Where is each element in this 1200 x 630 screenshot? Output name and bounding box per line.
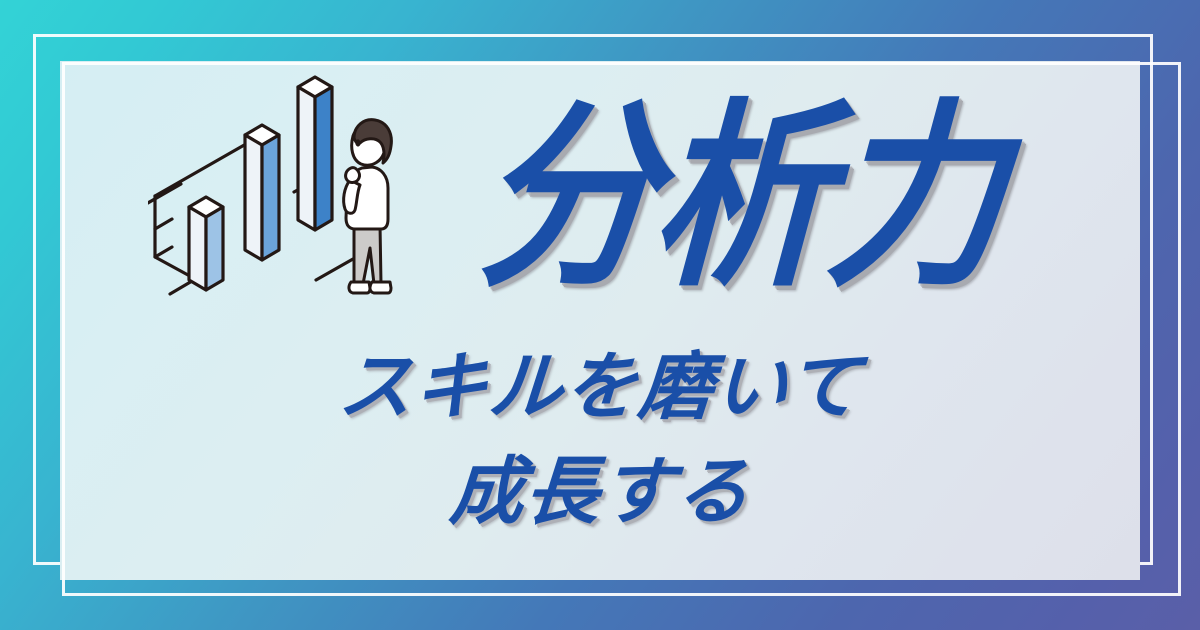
person-pants xyxy=(354,224,381,284)
title-block: 分析力 xyxy=(415,62,1065,332)
bar-medium xyxy=(245,125,279,260)
person-shoe-left xyxy=(349,282,370,293)
poster-canvas: 分析力 スキルを磨いて 成長する xyxy=(0,0,1200,630)
subtitle-block: スキルを磨いて 成長する xyxy=(60,335,1140,545)
subtitle-line-1: スキルを磨いて xyxy=(56,335,1143,440)
person-hand xyxy=(346,168,360,183)
bar-small xyxy=(189,197,223,290)
bar-chart-illustration xyxy=(148,72,418,332)
person-shoe-right xyxy=(370,282,391,293)
thinking-person xyxy=(344,120,392,293)
main-title: 分析力 xyxy=(474,97,1005,296)
bar-large xyxy=(298,77,332,230)
subtitle-line-2: 成長する xyxy=(56,440,1143,545)
person-eye xyxy=(355,139,360,146)
